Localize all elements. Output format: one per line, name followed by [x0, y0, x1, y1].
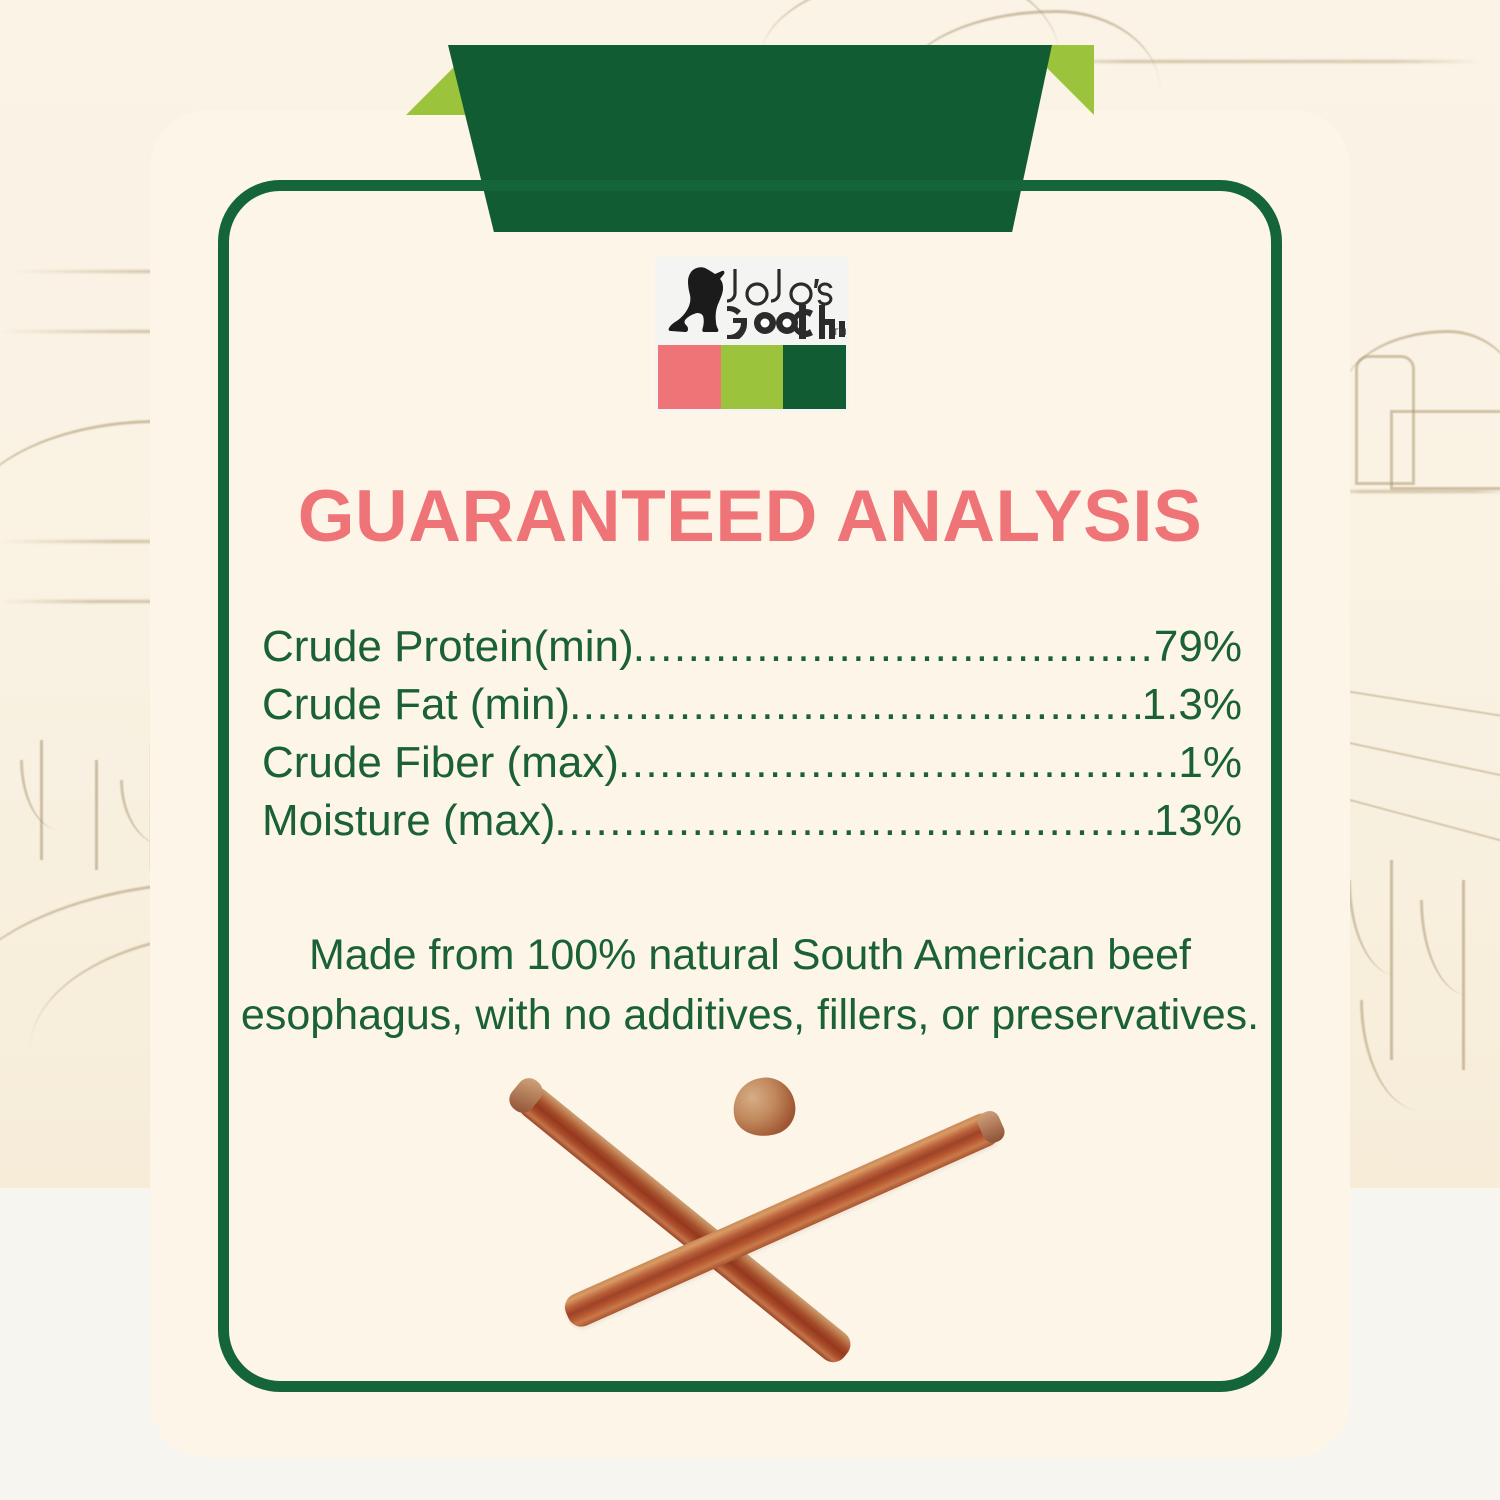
- swatch-pink: [658, 345, 721, 409]
- logo-trademark: TM: [833, 327, 847, 337]
- ribbon-banner: [0, 0, 1500, 260]
- bg-ground-line: [1330, 490, 1500, 493]
- product-photo-bully-sticks: [455, 1060, 1070, 1360]
- brand-logo: TM: [655, 257, 849, 412]
- logo-color-swatches: [658, 345, 846, 409]
- analysis-row: Moisture (max) .........................…: [262, 792, 1242, 850]
- description-line-1: Made from 100% natural South American be…: [232, 925, 1268, 985]
- bg-barn: [1390, 410, 1500, 490]
- dog-silhouette-icon: [667, 265, 729, 337]
- bg-grass-stalk: [95, 760, 98, 870]
- leader-dots: ........................................…: [554, 792, 1155, 850]
- page-title: GUARANTEED ANALYSIS: [218, 480, 1282, 553]
- analysis-row: Crude Fat (min) ........................…: [262, 676, 1242, 734]
- swatch-light-green: [721, 345, 784, 409]
- description-line-2: esophagus, with no additives, fillers, o…: [232, 985, 1268, 1045]
- label-graphic-page: TM GUARANTEED ANALYSIS Crude Protein(min…: [0, 0, 1500, 1500]
- analysis-row: Crude Protein(min) .....................…: [262, 618, 1242, 676]
- logo-wordmark: [727, 261, 845, 339]
- leader-dots: ........................................…: [569, 676, 1143, 734]
- leader-dots: ........................................…: [618, 734, 1179, 792]
- nutrient-label: Crude Fiber (max): [262, 734, 619, 792]
- product-description: Made from 100% natural South American be…: [232, 925, 1268, 1045]
- logo-mark: TM: [655, 257, 849, 343]
- leader-dots: ........................................…: [633, 618, 1155, 676]
- nutrient-value: 1.3%: [1142, 676, 1242, 734]
- guaranteed-analysis-list: Crude Protein(min) .....................…: [262, 618, 1242, 850]
- nutrient-value: 79%: [1154, 618, 1242, 676]
- nutrient-label: Crude Protein(min): [262, 618, 634, 676]
- bully-stick-knotted-end: [728, 1072, 801, 1142]
- nutrient-value: 1%: [1178, 734, 1242, 792]
- nutrient-label: Crude Fat (min): [262, 676, 570, 734]
- ribbon-body: [448, 45, 1052, 232]
- nutrient-label: Moisture (max): [262, 792, 555, 850]
- nutrient-value: 13%: [1154, 792, 1242, 850]
- analysis-row: Crude Fiber (max) ......................…: [262, 734, 1242, 792]
- swatch-dark-green: [783, 345, 846, 409]
